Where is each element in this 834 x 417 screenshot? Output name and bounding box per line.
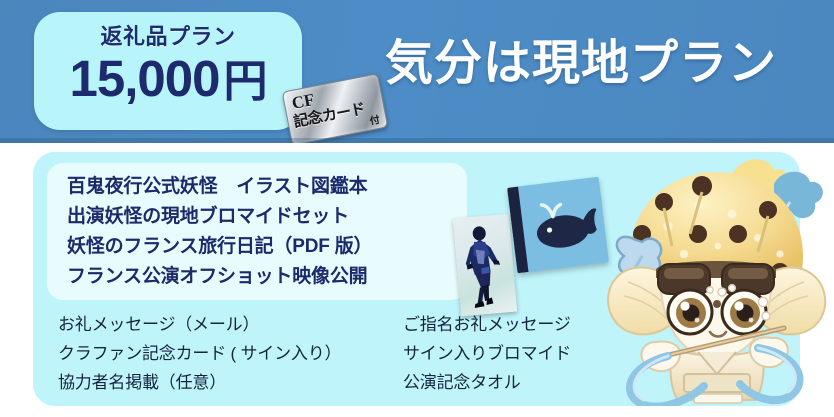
perk-list: 百鬼夜行公式妖怪 イラスト図鑑本 出演妖怪の現地ブロマイドセット 妖怪のフランス… — [67, 174, 372, 291]
price-card-kicker: 返礼品プラン — [100, 26, 235, 48]
reward-item: 協力者名掲載（任意） — [58, 370, 403, 397]
perk-item: 出演妖怪の現地ブロマイドセット — [67, 204, 372, 231]
header-band: 返礼品プラン 15,000円 CF 記念カード 付 気分は現地プラン — [0, 0, 834, 143]
perk-highlight-box: 百鬼夜行公式妖怪 イラスト図鑑本 出演妖怪の現地ブロマイドセット 妖怪のフランス… — [47, 163, 467, 300]
reward-item: クラファン記念カード ( サイン入り） — [58, 341, 403, 368]
perk-item: フランス公演オフショット映像公開 — [67, 264, 372, 291]
whale-illustration-icon — [507, 177, 609, 274]
poster-stage: 返礼品プラン 15,000円 CF 記念カード 付 気分は現地プラン 百鬼夜行公… — [0, 0, 834, 417]
price-amount-number: 15,000 — [70, 50, 220, 107]
cf-badge-suffix-label: 付 — [368, 111, 381, 128]
reward-columns: お礼メッセージ（メール） クラファン記念カード ( サイン入り） 協力者名掲載（… — [58, 312, 683, 397]
reward-column-left: お礼メッセージ（メール） クラファン記念カード ( サイン入り） 協力者名掲載（… — [58, 312, 403, 397]
costume-figure-icon — [462, 222, 509, 309]
reward-item: お礼メッセージ（メール） — [58, 312, 403, 339]
price-card-amount: 15,000円 — [70, 52, 267, 106]
price-currency-label: 円 — [224, 57, 267, 106]
perk-item: 百鬼夜行公式妖怪 イラスト図鑑本 — [67, 174, 372, 201]
mascot-figure-icon — [598, 142, 834, 406]
whale-book-cover — [507, 177, 609, 274]
price-card: 返礼品プラン 15,000円 — [34, 12, 302, 130]
yokai-mascot-illustration — [598, 142, 834, 406]
costume-photo — [453, 214, 517, 317]
perk-item: 妖怪のフランス旅行日記（PDF 版） — [67, 234, 372, 261]
page-title: 気分は現地プラン — [385, 40, 777, 88]
